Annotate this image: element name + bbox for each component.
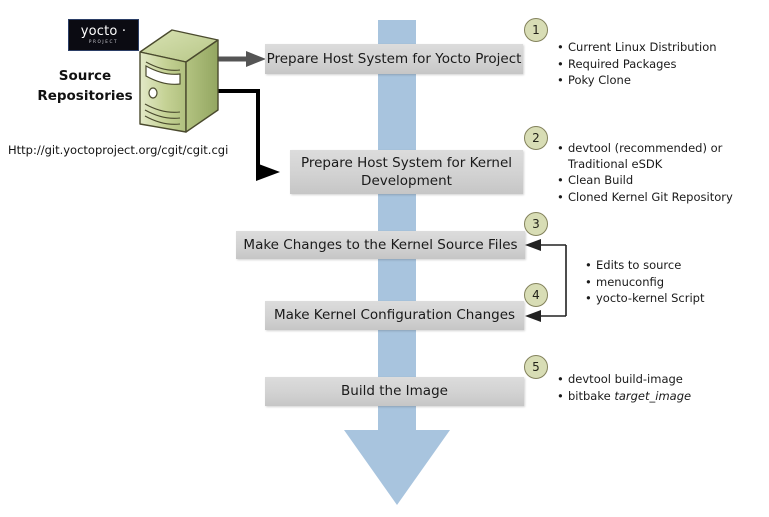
step-1-bullets: Current Linux Distribution Required Pack… [556,40,766,90]
list-item: Clean Build [568,173,768,189]
list-item: Poky Clone [568,73,766,89]
steps-3-4-shared-bullets: Edits to source menuconfig yocto-kernel … [584,258,764,308]
source-repositories-label: Source Repositories [30,66,140,106]
step-5-bullet-2-text: bitbake [568,389,614,403]
list-item: bitbake target_image [568,389,756,405]
list-item: Cloned Kernel Git Repository [568,190,768,206]
list-item: menuconfig [596,275,764,291]
diagram-canvas: yocto · PROJECT Source Repositories Http… [0,0,769,517]
process-box-step-5[interactable]: Build the Image [265,377,524,406]
yocto-logo: yocto · PROJECT [68,19,139,51]
list-item: yocto-kernel Script [596,291,764,307]
process-box-step-2[interactable]: Prepare Host System for Kernel Developme… [290,150,523,194]
source-label-line1: Source [30,66,140,86]
step-circle-2: 2 [524,126,548,150]
yocto-logo-subtext: PROJECT [89,38,118,45]
server-icon [130,28,222,138]
process-box-step-1[interactable]: Prepare Host System for Yocto Project [265,44,523,74]
step-2-bullets: devtool (recommended) or Traditional eSD… [556,141,768,206]
step-circle-4: 4 [524,283,548,307]
list-item: devtool build-image [568,372,756,388]
flow-arrow-head [344,430,450,505]
step-circle-1: 1 [524,18,548,42]
process-box-step-4[interactable]: Make Kernel Configuration Changes [265,301,524,330]
step-circle-5: 5 [524,355,548,379]
step-5-bullet-2-italic: target_image [614,389,691,403]
source-label-line2: Repositories [30,86,140,106]
source-repository-url: Http://git.yoctoproject.org/cgit/cgit.cg… [8,143,228,157]
step-circle-3: 3 [524,212,548,236]
flow-arrow-shaft [378,20,416,432]
list-item: Current Linux Distribution [568,40,766,56]
list-item: Required Packages [568,57,766,73]
list-item: devtool (recommended) or Traditional eSD… [568,141,768,172]
process-box-step-3[interactable]: Make Changes to the Kernel Source Files [236,231,525,259]
step-5-bullets: devtool build-image bitbake target_image [556,372,756,405]
yocto-logo-wordmark: yocto · [81,25,127,38]
list-item: Edits to source [596,258,764,274]
step-5-bullet-1-text: devtool build-image [568,372,683,386]
